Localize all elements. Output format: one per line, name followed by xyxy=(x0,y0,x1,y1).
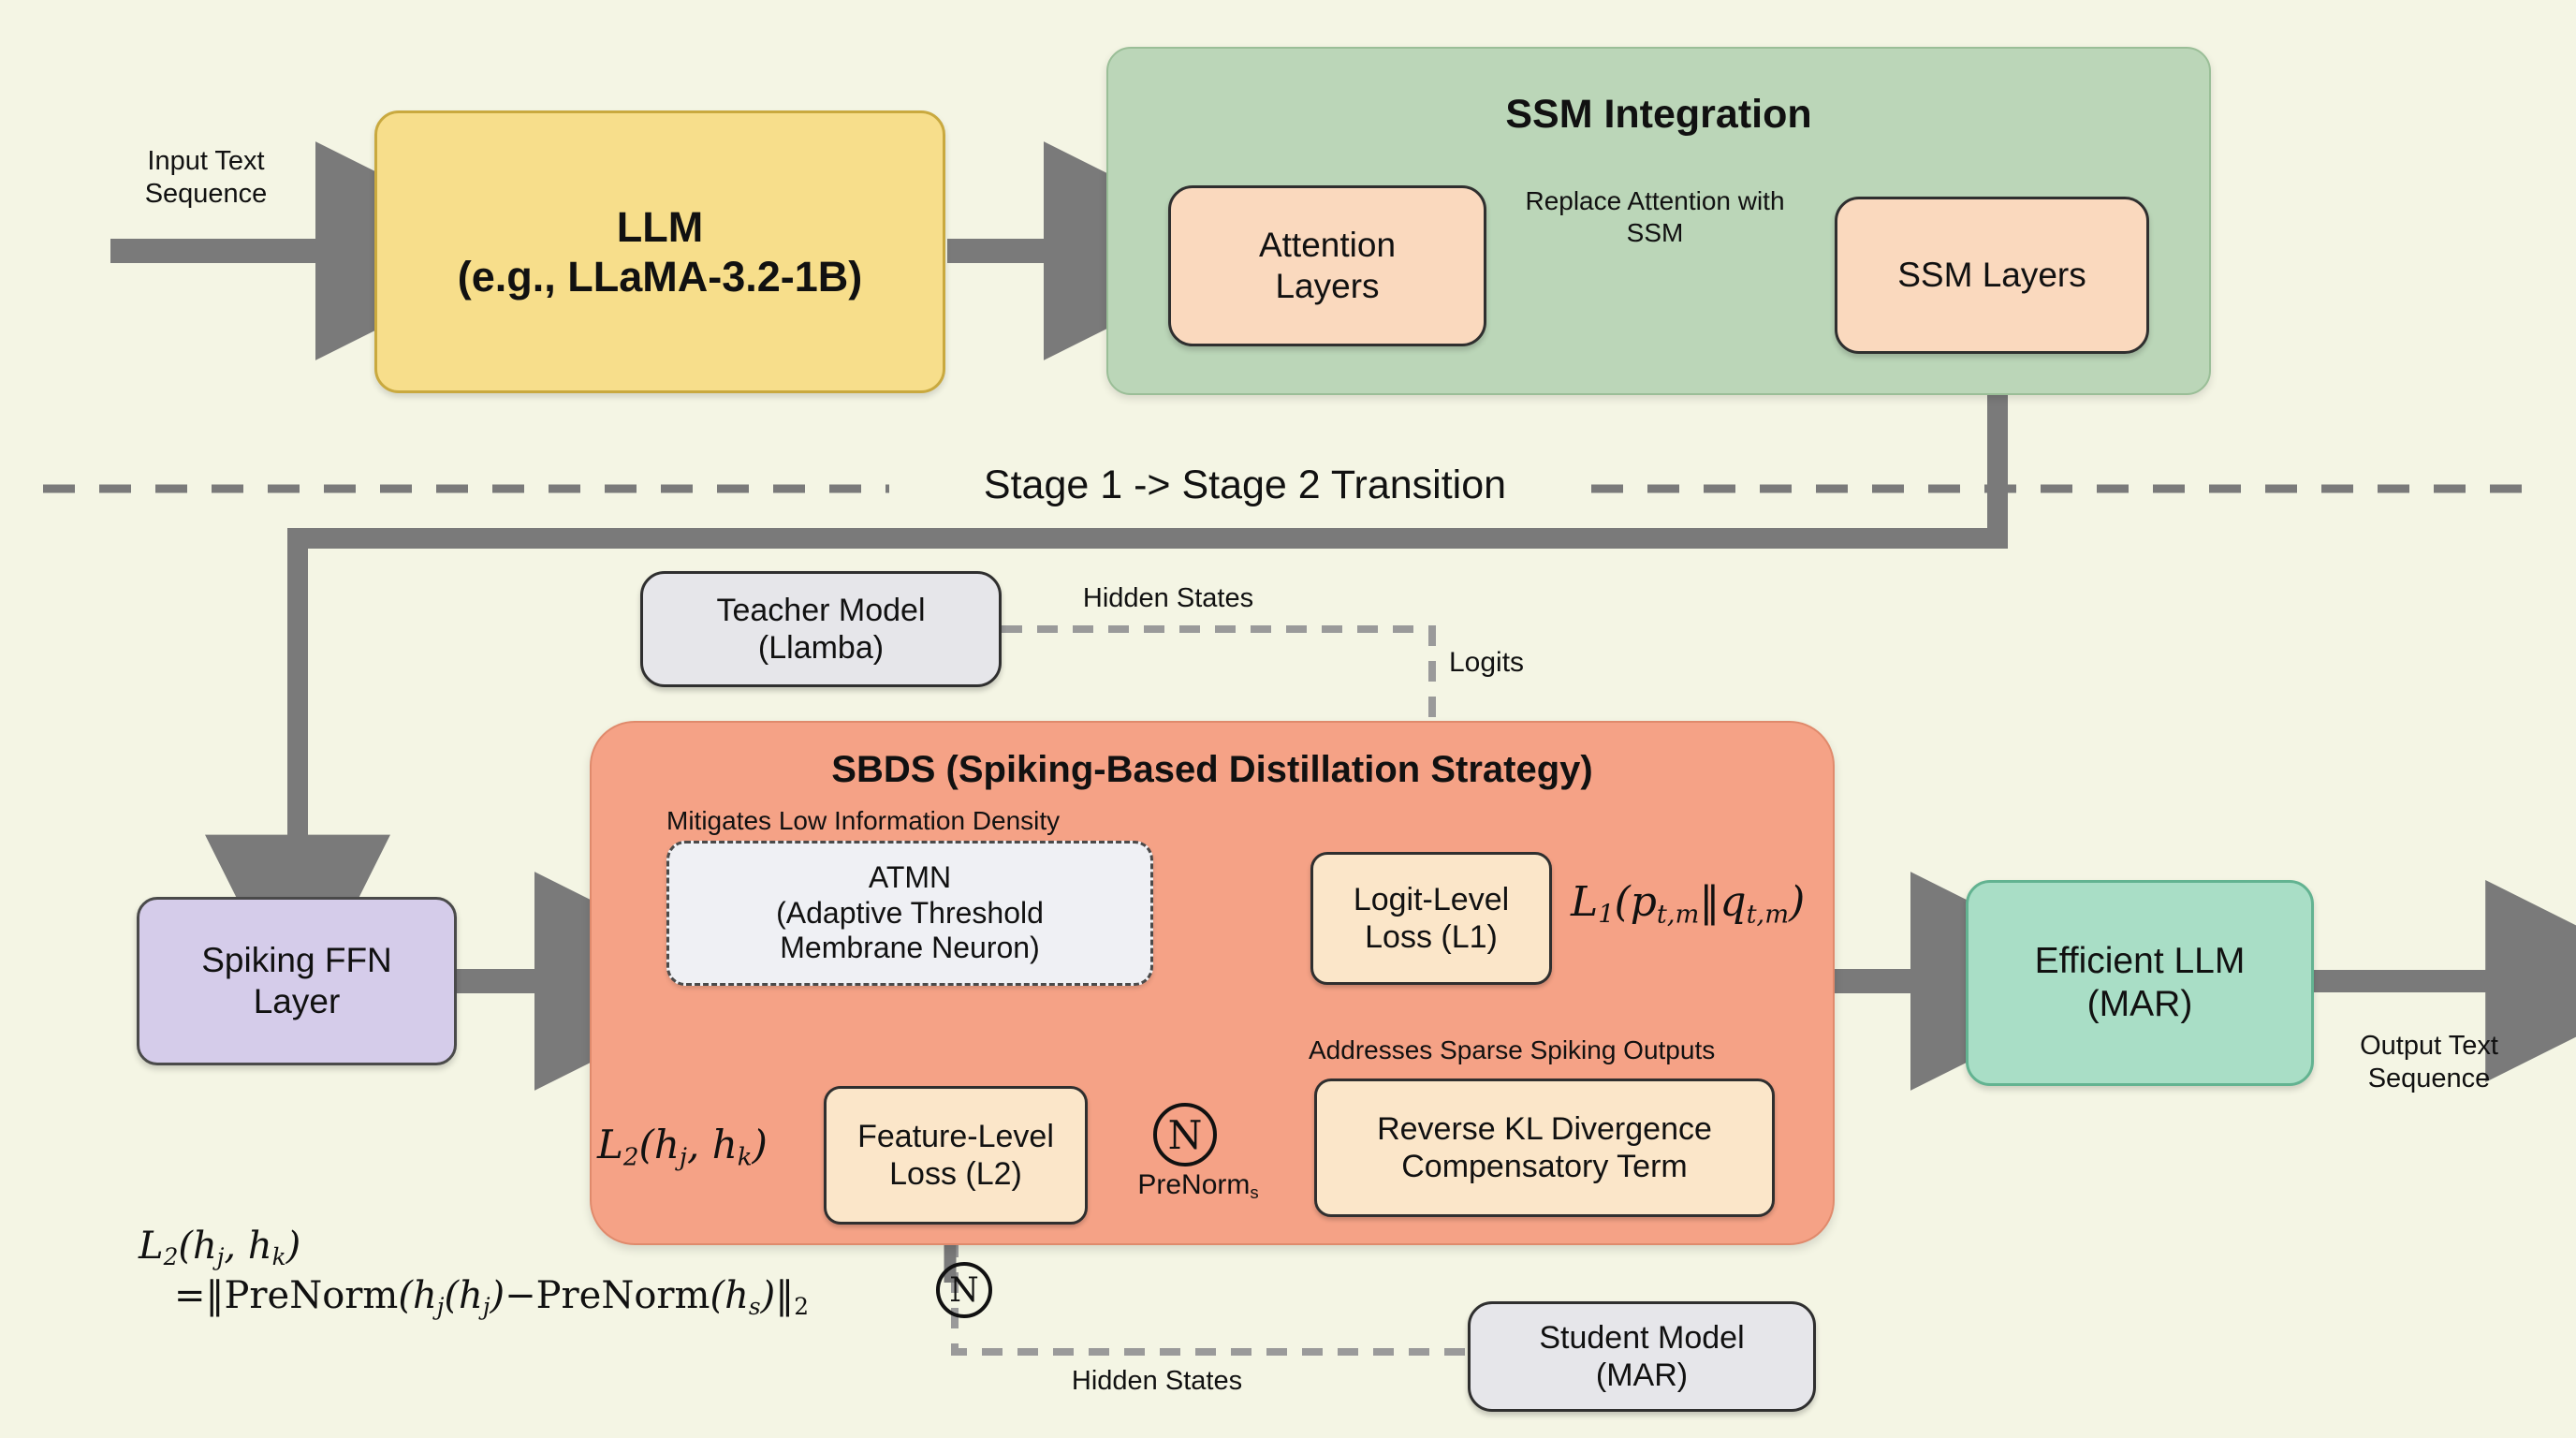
logit-level-loss-box[interactable]: Logit-Level Loss (L1) xyxy=(1310,852,1552,985)
prenorm-caption: PreNorms xyxy=(1114,1168,1282,1204)
atmn-box[interactable]: ATMN (Adaptive Threshold Membrane Neuron… xyxy=(666,841,1153,986)
logit-level-loss-label: Logit-Level Loss (L1) xyxy=(1354,881,1509,956)
teacher-model-box[interactable]: Teacher Model (Llamba) xyxy=(640,571,1002,687)
teacher-model-label: Teacher Model (Llamba) xyxy=(716,592,925,667)
formula-n-glyph: N xyxy=(949,1271,979,1310)
sbds-note-right: Addresses Sparse Spiking Outputs xyxy=(1309,1034,1870,1066)
sbds-title: SBDS (Spiking-Based Distillation Strateg… xyxy=(590,749,1835,791)
attention-layers-label: Attention Layers xyxy=(1259,225,1396,306)
logits-label: Logits xyxy=(1449,646,1636,680)
output-text-label: Output Text Sequence xyxy=(2323,1030,2535,1095)
feature-level-loss-box[interactable]: Feature-Level Loss (L2) xyxy=(824,1086,1088,1225)
teacher-hidden-states-label: Hidden States xyxy=(1046,582,1290,615)
prenorm-caption-main: PreNorm xyxy=(1137,1169,1250,1200)
ssm-layers-label: SSM Layers xyxy=(1897,255,2086,296)
formula-l1: L1(pt,m‖qt,m) xyxy=(1571,878,1805,930)
student-hidden-states-label: Hidden States xyxy=(1026,1365,1288,1398)
llm-box[interactable]: LLM (e.g., LLaMA-3.2-1B) xyxy=(374,110,945,393)
ssm-layers-box[interactable]: SSM Layers xyxy=(1835,197,2149,354)
atmn-label: ATMN (Adaptive Threshold Membrane Neuron… xyxy=(776,860,1044,966)
attention-layers-box[interactable]: Attention Layers xyxy=(1168,185,1486,346)
llm-label: LLM (e.g., LLaMA-3.2-1B) xyxy=(458,202,863,301)
feature-level-loss-label: Feature-Level Loss (L2) xyxy=(857,1118,1054,1193)
efficient-llm-label: Efficient LLM (MAR) xyxy=(2035,940,2246,1026)
student-model-box[interactable]: Student Model (MAR) xyxy=(1468,1301,1816,1412)
reverse-kl-box[interactable]: Reverse KL Divergence Compensatory Term xyxy=(1314,1078,1775,1217)
prenorm-n-badge-icon: N xyxy=(1153,1103,1217,1167)
sbds-note-left: Mitigates Low Information Density xyxy=(666,805,1247,837)
reverse-kl-label: Reverse KL Divergence Compensatory Term xyxy=(1377,1110,1712,1185)
formula-l2-full-line1: L2(hj, hk) xyxy=(139,1223,809,1272)
prenorm-n-glyph: N xyxy=(1168,1112,1203,1158)
student-model-label: Student Model (MAR) xyxy=(1539,1319,1744,1394)
formula-l2-inline: L2(hj, hk) xyxy=(597,1122,768,1171)
formula-n-badge-icon: N xyxy=(936,1262,992,1318)
prenorm-caption-sub: s xyxy=(1250,1182,1258,1202)
spiking-ffn-box[interactable]: Spiking FFN Layer xyxy=(137,897,457,1065)
ssm-integration-title: SSM Integration xyxy=(1106,92,2211,138)
spiking-ffn-label: Spiking FFN Layer xyxy=(201,940,392,1021)
diagram-canvas: Input Text Sequence LLM (e.g., LLaMA-3.2… xyxy=(0,0,2576,1438)
replace-attention-label: Replace Attention with SSM xyxy=(1505,185,1805,248)
stage-transition-label: Stage 1 -> Stage 2 Transition xyxy=(899,462,1591,510)
formula-l2-full: L2(hj, hk) =‖PreNorm(hj(hj)−PreNorm(hs)‖… xyxy=(139,1223,809,1321)
efficient-llm-box[interactable]: Efficient LLM (MAR) xyxy=(1966,880,2314,1086)
input-text-label: Input Text Sequence xyxy=(122,145,290,211)
formula-l2-full-line2: =‖PreNorm(hj(hj)−PreNorm(hs)‖2 xyxy=(139,1272,809,1322)
